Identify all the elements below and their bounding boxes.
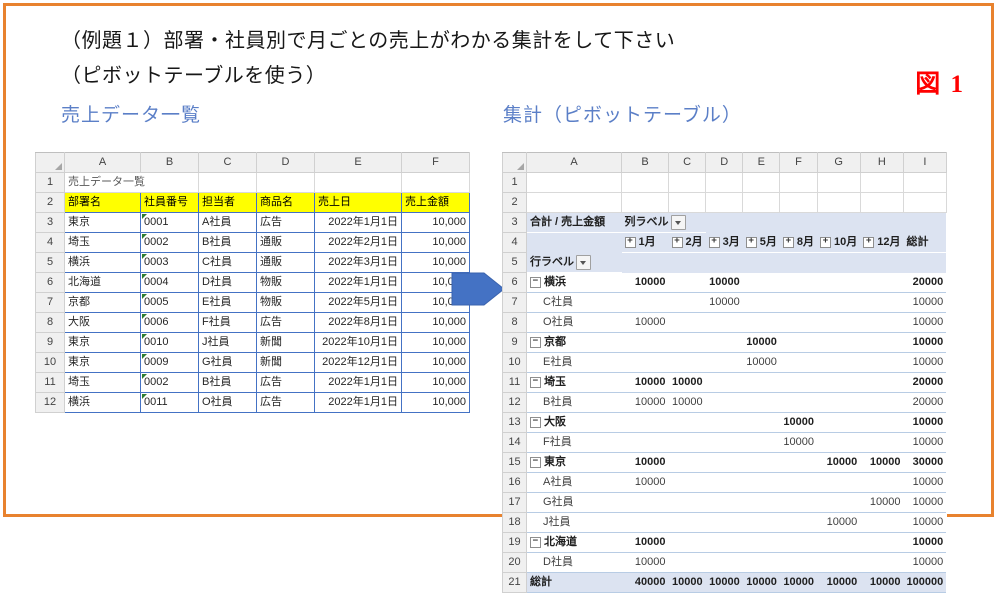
header-cell-3[interactable]: 担当者 [199, 193, 257, 213]
pivot-value-cell-7[interactable]: 10000 [860, 453, 903, 473]
pivot-value-cell-5[interactable]: 10000 [780, 413, 817, 433]
empty-cell[interactable] [622, 253, 669, 273]
header-cell-2[interactable]: 社員番号 [141, 193, 199, 213]
empty-cell[interactable] [780, 173, 817, 193]
pivot-value-cell-1[interactable] [622, 353, 669, 373]
empty-cell[interactable] [780, 193, 817, 213]
pivot-value-cell-2[interactable] [669, 333, 706, 353]
pivot-value-cell-7[interactable] [860, 353, 903, 373]
pivot-value-cell-7[interactable] [860, 413, 903, 433]
empty-cell[interactable] [817, 213, 860, 233]
empty-cell[interactable] [199, 173, 257, 193]
pivot-value-cell-3[interactable] [706, 433, 743, 453]
pivot-value-cell-6[interactable] [817, 533, 860, 553]
pivot-value-cell-4[interactable] [743, 493, 780, 513]
column-header-b[interactable]: B [141, 153, 199, 173]
cell-person[interactable]: A社員 [199, 213, 257, 233]
row-header-19[interactable]: 19 [503, 533, 527, 553]
pivot-value-cell-2[interactable] [669, 473, 706, 493]
pivot-value-cell-2[interactable] [669, 493, 706, 513]
pivot-value-cell-6[interactable] [817, 353, 860, 373]
header-cell-1[interactable]: 部署名 [65, 193, 141, 213]
cell-date[interactable]: 2022年1月1日 [315, 373, 402, 393]
pivot-value-caption[interactable]: 合計 / 売上金額 [527, 213, 622, 233]
pivot-value-cell-6[interactable] [817, 273, 860, 293]
cell-employee-number[interactable]: 0006 [141, 313, 199, 333]
cell-date[interactable]: 2022年2月1日 [315, 233, 402, 253]
row-filter-button[interactable] [576, 255, 591, 270]
pivot-value-cell-2[interactable] [669, 413, 706, 433]
pivot-grand-total-label[interactable]: 総計 [527, 573, 622, 593]
empty-cell[interactable] [706, 193, 743, 213]
pivot-value-cell-3[interactable]: 10000 [706, 273, 743, 293]
row-header-20[interactable]: 20 [503, 553, 527, 573]
row-header-10[interactable]: 10 [36, 353, 65, 373]
row-header-16[interactable]: 16 [503, 473, 527, 493]
pivot-value-cell-2[interactable] [669, 453, 706, 473]
cell-date[interactable]: 2022年5月1日 [315, 293, 402, 313]
pivot-value-cell-2[interactable] [669, 433, 706, 453]
cell-employee-number[interactable]: 0003 [141, 253, 199, 273]
pivot-value-cell-6[interactable] [817, 313, 860, 333]
pivot-value-cell-6[interactable] [817, 553, 860, 573]
column-header-d[interactable]: D [706, 153, 743, 173]
pivot-row-total[interactable]: 10000 [904, 433, 947, 453]
pivot-value-cell-4[interactable]: 10000 [743, 353, 780, 373]
pivot-group-label[interactable]: −大阪 [527, 413, 622, 433]
cell-date[interactable]: 2022年1月1日 [315, 213, 402, 233]
pivot-row-total[interactable]: 30000 [904, 453, 947, 473]
column-header-e[interactable]: E [743, 153, 780, 173]
column-header-e[interactable]: E [315, 153, 402, 173]
pivot-member-label[interactable]: D社員 [527, 553, 622, 573]
pivot-month-header-5[interactable]: +8月 [780, 233, 817, 253]
pivot-value-cell-3[interactable] [706, 333, 743, 353]
cell-person[interactable]: F社員 [199, 313, 257, 333]
empty-cell[interactable] [743, 213, 780, 233]
cell-product[interactable]: 広告 [257, 213, 315, 233]
cell-amount[interactable]: 10,000 [402, 373, 470, 393]
pivot-value-cell-7[interactable] [860, 553, 903, 573]
cell-product[interactable]: 広告 [257, 393, 315, 413]
empty-cell[interactable] [402, 173, 470, 193]
expand-icon[interactable]: + [625, 237, 636, 248]
empty-cell[interactable] [706, 213, 743, 233]
pivot-group-label[interactable]: −横浜 [527, 273, 622, 293]
pivot-value-cell-4[interactable] [743, 553, 780, 573]
pivot-value-cell-5[interactable] [780, 533, 817, 553]
collapse-icon[interactable]: − [530, 417, 541, 428]
pivot-value-cell-1[interactable] [622, 413, 669, 433]
row-header-7[interactable]: 7 [36, 293, 65, 313]
pivot-row-total[interactable]: 20000 [904, 393, 947, 413]
pivot-row-total[interactable]: 10000 [904, 413, 947, 433]
pivot-value-cell-4[interactable] [743, 393, 780, 413]
pivot-value-cell-1[interactable] [622, 433, 669, 453]
column-header-g[interactable]: G [817, 153, 860, 173]
empty-cell[interactable] [257, 173, 315, 193]
row-header-9[interactable]: 9 [36, 333, 65, 353]
pivot-value-cell-2[interactable] [669, 273, 706, 293]
empty-cell[interactable] [527, 233, 622, 253]
expand-icon[interactable]: + [820, 237, 831, 248]
column-header-a[interactable]: A [65, 153, 141, 173]
pivot-row-total[interactable]: 20000 [904, 373, 947, 393]
pivot-row-total[interactable]: 10000 [904, 293, 947, 313]
pivot-value-cell-6[interactable] [817, 493, 860, 513]
row-header-3[interactable]: 3 [503, 213, 527, 233]
pivot-value-cell-3[interactable] [706, 413, 743, 433]
pivot-value-cell-7[interactable] [860, 313, 903, 333]
row-header-5[interactable]: 5 [36, 253, 65, 273]
row-header-1[interactable]: 1 [503, 173, 527, 193]
pivot-value-cell-7[interactable] [860, 293, 903, 313]
cell-dept[interactable]: 北海道 [65, 273, 141, 293]
row-header-11[interactable]: 11 [36, 373, 65, 393]
cell-employee-number[interactable]: 0002 [141, 373, 199, 393]
cell-amount[interactable]: 10,000 [402, 353, 470, 373]
pivot-value-cell-2[interactable]: 10000 [669, 393, 706, 413]
cell-product[interactable]: 広告 [257, 313, 315, 333]
cell-product[interactable]: 通販 [257, 253, 315, 273]
select-all-corner[interactable] [36, 153, 65, 173]
empty-cell[interactable] [527, 193, 622, 213]
column-header-c[interactable]: C [199, 153, 257, 173]
header-cell-4[interactable]: 商品名 [257, 193, 315, 213]
pivot-value-cell-1[interactable]: 10000 [622, 273, 669, 293]
pivot-value-cell-3[interactable] [706, 513, 743, 533]
empty-cell[interactable] [743, 193, 780, 213]
pivot-value-cell-7[interactable] [860, 273, 903, 293]
cell-amount[interactable]: 10,000 [402, 213, 470, 233]
pivot-member-label[interactable]: O社員 [527, 313, 622, 333]
row-header-4[interactable]: 4 [36, 233, 65, 253]
pivot-value-cell-3[interactable] [706, 533, 743, 553]
pivot-value-cell-5[interactable] [780, 373, 817, 393]
pivot-value-cell-5[interactable]: 10000 [780, 573, 817, 593]
pivot-month-header-4[interactable]: +5月 [743, 233, 780, 253]
pivot-member-label[interactable]: A社員 [527, 473, 622, 493]
pivot-month-header-3[interactable]: +3月 [706, 233, 743, 253]
pivot-column-label[interactable]: 列ラベル [622, 213, 706, 233]
empty-cell[interactable] [860, 173, 903, 193]
select-all-corner[interactable] [503, 153, 527, 173]
row-header-4[interactable]: 4 [503, 233, 527, 253]
pivot-value-cell-4[interactable] [743, 313, 780, 333]
row-header-6[interactable]: 6 [36, 273, 65, 293]
cell-dept[interactable]: 横浜 [65, 393, 141, 413]
expand-icon[interactable]: + [783, 237, 794, 248]
empty-cell[interactable] [904, 253, 947, 273]
empty-cell[interactable] [860, 253, 903, 273]
pivot-value-cell-5[interactable] [780, 453, 817, 473]
pivot-row-total[interactable]: 10000 [904, 533, 947, 553]
row-header-2[interactable]: 2 [503, 193, 527, 213]
pivot-group-label[interactable]: −北海道 [527, 533, 622, 553]
pivot-month-header-1[interactable]: +1月 [622, 233, 669, 253]
pivot-value-cell-6[interactable] [817, 373, 860, 393]
pivot-group-label[interactable]: −京都 [527, 333, 622, 353]
pivot-value-cell-1[interactable]: 40000 [622, 573, 669, 593]
header-cell-6[interactable]: 売上金額 [402, 193, 470, 213]
pivot-value-cell-3[interactable] [706, 313, 743, 333]
pivot-value-cell-4[interactable] [743, 273, 780, 293]
pivot-value-cell-3[interactable] [706, 453, 743, 473]
pivot-value-cell-6[interactable] [817, 413, 860, 433]
pivot-value-cell-5[interactable] [780, 393, 817, 413]
expand-icon[interactable]: + [863, 237, 874, 248]
column-header-f[interactable]: F [780, 153, 817, 173]
row-header-2[interactable]: 2 [36, 193, 65, 213]
pivot-value-cell-1[interactable]: 10000 [622, 473, 669, 493]
cell-employee-number[interactable]: 0001 [141, 213, 199, 233]
pivot-value-cell-2[interactable] [669, 533, 706, 553]
pivot-row-total[interactable]: 10000 [904, 353, 947, 373]
cell-person[interactable]: B社員 [199, 373, 257, 393]
pivot-value-cell-1[interactable] [622, 293, 669, 313]
pivot-value-cell-6[interactable] [817, 393, 860, 413]
pivot-value-cell-1[interactable]: 10000 [622, 453, 669, 473]
empty-cell[interactable] [706, 253, 743, 273]
cell-employee-number[interactable]: 0009 [141, 353, 199, 373]
row-header-1[interactable]: 1 [36, 173, 65, 193]
cell-date[interactable]: 2022年10月1日 [315, 333, 402, 353]
empty-cell[interactable] [706, 173, 743, 193]
pivot-value-cell-7[interactable] [860, 393, 903, 413]
cell-product[interactable]: 新聞 [257, 333, 315, 353]
pivot-value-cell-7[interactable]: 10000 [860, 573, 903, 593]
expand-icon[interactable]: + [746, 237, 757, 248]
row-header-12[interactable]: 12 [503, 393, 527, 413]
row-header-7[interactable]: 7 [503, 293, 527, 313]
cell-person[interactable]: E社員 [199, 293, 257, 313]
pivot-member-label[interactable]: G社員 [527, 493, 622, 513]
pivot-value-cell-5[interactable] [780, 513, 817, 533]
cell-date[interactable]: 2022年1月1日 [315, 273, 402, 293]
pivot-value-cell-3[interactable] [706, 553, 743, 573]
cell-dept[interactable]: 東京 [65, 213, 141, 233]
cell-date[interactable]: 2022年8月1日 [315, 313, 402, 333]
empty-cell[interactable] [315, 173, 402, 193]
empty-cell[interactable] [860, 193, 903, 213]
empty-cell[interactable] [817, 173, 860, 193]
pivot-value-cell-3[interactable] [706, 353, 743, 373]
pivot-value-cell-4[interactable] [743, 453, 780, 473]
row-header-3[interactable]: 3 [36, 213, 65, 233]
cell-employee-number[interactable]: 0010 [141, 333, 199, 353]
pivot-value-cell-7[interactable] [860, 433, 903, 453]
pivot-value-cell-3[interactable] [706, 473, 743, 493]
row-header-6[interactable]: 6 [503, 273, 527, 293]
pivot-value-cell-5[interactable] [780, 353, 817, 373]
pivot-value-cell-1[interactable]: 10000 [622, 313, 669, 333]
pivot-value-cell-4[interactable] [743, 533, 780, 553]
cell-employee-number[interactable]: 0011 [141, 393, 199, 413]
pivot-value-cell-6[interactable]: 10000 [817, 453, 860, 473]
pivot-row-label[interactable]: 行ラベル [527, 253, 622, 273]
column-header-c[interactable]: C [669, 153, 706, 173]
row-header-12[interactable]: 12 [36, 393, 65, 413]
pivot-row-total[interactable]: 10000 [904, 513, 947, 533]
pivot-value-cell-6[interactable]: 10000 [817, 573, 860, 593]
column-header-d[interactable]: D [257, 153, 315, 173]
collapse-icon[interactable]: − [530, 337, 541, 348]
pivot-value-cell-3[interactable]: 10000 [706, 293, 743, 313]
cell-dept[interactable]: 東京 [65, 353, 141, 373]
pivot-value-cell-5[interactable] [780, 293, 817, 313]
pivot-row-total[interactable]: 10000 [904, 473, 947, 493]
pivot-value-cell-2[interactable] [669, 353, 706, 373]
pivot-value-cell-6[interactable]: 10000 [817, 513, 860, 533]
pivot-value-cell-1[interactable]: 10000 [622, 373, 669, 393]
pivot-value-cell-5[interactable]: 10000 [780, 433, 817, 453]
row-header-10[interactable]: 10 [503, 353, 527, 373]
column-header-i[interactable]: I [904, 153, 947, 173]
cell-employee-number[interactable]: 0005 [141, 293, 199, 313]
cell-person[interactable]: B社員 [199, 233, 257, 253]
column-header-a[interactable]: A [527, 153, 622, 173]
pivot-member-label[interactable]: F社員 [527, 433, 622, 453]
row-header-8[interactable]: 8 [36, 313, 65, 333]
pivot-month-header-7[interactable]: +12月 [860, 233, 903, 253]
pivot-value-cell-1[interactable] [622, 493, 669, 513]
cell-dept[interactable]: 京都 [65, 293, 141, 313]
pivot-value-cell-6[interactable] [817, 433, 860, 453]
pivot-value-cell-6[interactable] [817, 473, 860, 493]
pivot-value-cell-2[interactable] [669, 293, 706, 313]
cell-product[interactable]: 通販 [257, 233, 315, 253]
row-header-17[interactable]: 17 [503, 493, 527, 513]
collapse-icon[interactable]: − [530, 537, 541, 548]
pivot-value-cell-7[interactable]: 10000 [860, 493, 903, 513]
pivot-value-cell-6[interactable] [817, 333, 860, 353]
sheet-title-cell[interactable]: 売上データ一覧 [65, 173, 199, 193]
pivot-value-cell-4[interactable] [743, 293, 780, 313]
pivot-row-total[interactable]: 10000 [904, 313, 947, 333]
pivot-member-label[interactable]: E社員 [527, 353, 622, 373]
pivot-value-cell-1[interactable]: 10000 [622, 533, 669, 553]
pivot-member-label[interactable]: B社員 [527, 393, 622, 413]
cell-person[interactable]: J社員 [199, 333, 257, 353]
empty-cell[interactable] [817, 193, 860, 213]
row-header-18[interactable]: 18 [503, 513, 527, 533]
pivot-value-cell-4[interactable] [743, 513, 780, 533]
pivot-row-total[interactable]: 100000 [904, 573, 947, 593]
pivot-value-cell-3[interactable] [706, 393, 743, 413]
row-header-8[interactable]: 8 [503, 313, 527, 333]
pivot-month-header-2[interactable]: +2月 [669, 233, 706, 253]
column-filter-button[interactable] [671, 215, 686, 230]
pivot-value-cell-5[interactable] [780, 333, 817, 353]
row-header-5[interactable]: 5 [503, 253, 527, 273]
cell-product[interactable]: 広告 [257, 373, 315, 393]
empty-cell[interactable] [780, 253, 817, 273]
pivot-value-cell-5[interactable] [780, 313, 817, 333]
cell-amount[interactable]: 10,000 [402, 393, 470, 413]
pivot-value-cell-1[interactable]: 10000 [622, 393, 669, 413]
collapse-icon[interactable]: − [530, 277, 541, 288]
empty-cell[interactable] [527, 173, 622, 193]
column-header-f[interactable]: F [402, 153, 470, 173]
cell-product[interactable]: 物販 [257, 273, 315, 293]
pivot-grand-total-header[interactable]: 総計 [904, 233, 947, 253]
collapse-icon[interactable]: − [530, 457, 541, 468]
pivot-value-cell-2[interactable] [669, 513, 706, 533]
row-header-11[interactable]: 11 [503, 373, 527, 393]
row-header-14[interactable]: 14 [503, 433, 527, 453]
pivot-value-cell-4[interactable]: 10000 [743, 573, 780, 593]
cell-dept[interactable]: 東京 [65, 333, 141, 353]
empty-cell[interactable] [860, 213, 903, 233]
pivot-value-cell-2[interactable] [669, 553, 706, 573]
row-header-9[interactable]: 9 [503, 333, 527, 353]
cell-dept[interactable]: 大阪 [65, 313, 141, 333]
pivot-value-cell-3[interactable] [706, 493, 743, 513]
pivot-value-cell-7[interactable] [860, 373, 903, 393]
empty-cell[interactable] [669, 193, 706, 213]
cell-employee-number[interactable]: 0002 [141, 233, 199, 253]
row-header-13[interactable]: 13 [503, 413, 527, 433]
empty-cell[interactable] [904, 173, 947, 193]
cell-dept[interactable]: 埼玉 [65, 233, 141, 253]
pivot-member-label[interactable]: J社員 [527, 513, 622, 533]
pivot-value-cell-6[interactable] [817, 293, 860, 313]
expand-icon[interactable]: + [709, 237, 720, 248]
cell-product[interactable]: 物販 [257, 293, 315, 313]
empty-cell[interactable] [622, 193, 669, 213]
empty-cell[interactable] [743, 253, 780, 273]
collapse-icon[interactable]: − [530, 377, 541, 388]
pivot-value-cell-2[interactable]: 10000 [669, 373, 706, 393]
pivot-row-total[interactable]: 20000 [904, 273, 947, 293]
pivot-month-header-6[interactable]: +10月 [817, 233, 860, 253]
pivot-member-label[interactable]: C社員 [527, 293, 622, 313]
cell-dept[interactable]: 横浜 [65, 253, 141, 273]
pivot-value-cell-5[interactable] [780, 553, 817, 573]
row-header-15[interactable]: 15 [503, 453, 527, 473]
empty-cell[interactable] [904, 213, 947, 233]
cell-date[interactable]: 2022年3月1日 [315, 253, 402, 273]
empty-cell[interactable] [622, 173, 669, 193]
cell-person[interactable]: O社員 [199, 393, 257, 413]
pivot-value-cell-4[interactable]: 10000 [743, 333, 780, 353]
pivot-value-cell-7[interactable] [860, 513, 903, 533]
pivot-value-cell-7[interactable] [860, 533, 903, 553]
pivot-value-cell-5[interactable] [780, 493, 817, 513]
header-cell-5[interactable]: 売上日 [315, 193, 402, 213]
pivot-row-total[interactable]: 10000 [904, 553, 947, 573]
empty-cell[interactable] [780, 213, 817, 233]
empty-cell[interactable] [904, 193, 947, 213]
cell-amount[interactable]: 10,000 [402, 333, 470, 353]
pivot-row-total[interactable]: 10000 [904, 493, 947, 513]
cell-person[interactable]: C社員 [199, 253, 257, 273]
pivot-value-cell-1[interactable] [622, 333, 669, 353]
column-header-h[interactable]: H [860, 153, 903, 173]
pivot-value-cell-5[interactable] [780, 473, 817, 493]
expand-icon[interactable]: + [672, 237, 683, 248]
empty-cell[interactable] [669, 173, 706, 193]
pivot-value-cell-7[interactable] [860, 333, 903, 353]
pivot-value-cell-5[interactable] [780, 273, 817, 293]
cell-date[interactable]: 2022年1月1日 [315, 393, 402, 413]
cell-person[interactable]: G社員 [199, 353, 257, 373]
cell-dept[interactable]: 埼玉 [65, 373, 141, 393]
row-header-21[interactable]: 21 [503, 573, 527, 593]
pivot-value-cell-1[interactable]: 10000 [622, 553, 669, 573]
pivot-group-label[interactable]: −埼玉 [527, 373, 622, 393]
cell-date[interactable]: 2022年12月1日 [315, 353, 402, 373]
